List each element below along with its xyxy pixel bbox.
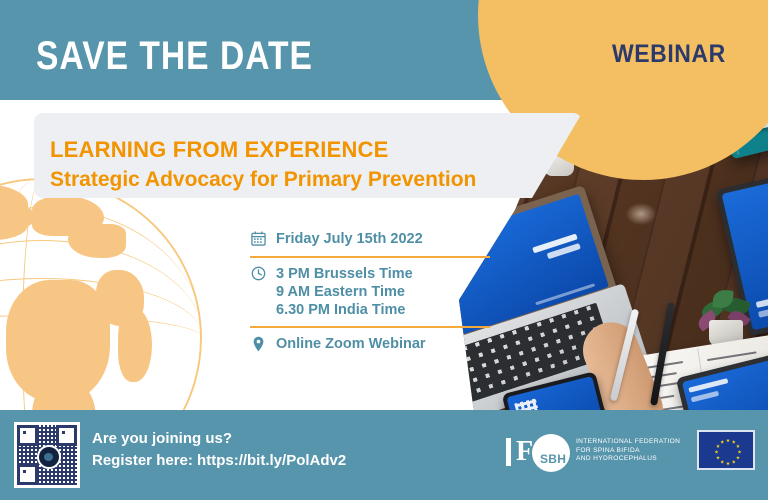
eu-flag-star — [732, 460, 736, 464]
event-date: Friday July 15th 2022 — [276, 230, 423, 248]
ifsbh-logo: F SBH INTERNATIONAL FEDERATION FOR SPINA… — [504, 432, 684, 474]
webinar-subtitle: Strategic Advocacy for Primary Preventio… — [50, 168, 476, 192]
eu-flag-star — [720, 460, 724, 464]
divider — [250, 256, 490, 258]
event-location: Online Zoom Webinar — [276, 335, 426, 353]
logo-org-name-line: AND HYDROCEPHALUS — [576, 455, 680, 464]
eu-flag-star — [736, 444, 740, 448]
event-time-line: 9 AM Eastern Time — [276, 283, 413, 301]
map-pin-icon — [250, 335, 266, 354]
webinar-flyer: SAVE THE DATE WEBINAR LEARNING FROM EXPE… — [0, 0, 768, 500]
status-badge: WEBINAR — [612, 40, 726, 69]
eu-flag-star — [716, 456, 720, 460]
detail-row-times: 3 PM Brussels Time 9 AM Eastern Time 6.3… — [250, 265, 494, 319]
logo-org-name-line: FOR SPINA BIFIDA — [576, 447, 680, 456]
logo-sbh-text: SBH — [540, 452, 566, 466]
eu-flag-star — [738, 450, 742, 454]
eu-flag-star — [726, 462, 730, 466]
event-details: Friday July 15th 2022 3 PM Brussels Time… — [250, 230, 494, 354]
event-time-line: 6.30 PM India Time — [276, 301, 413, 319]
detail-row-location: Online Zoom Webinar — [250, 335, 494, 354]
eu-flag-star — [715, 450, 719, 454]
join-question: Are you joining us? — [92, 430, 232, 447]
eu-flag-star — [726, 439, 730, 443]
event-times: 3 PM Brussels Time 9 AM Eastern Time 6.3… — [276, 265, 413, 319]
qr-code-icon[interactable] — [14, 422, 80, 488]
clock-icon — [250, 265, 266, 284]
eu-flag-star — [732, 440, 736, 444]
eu-flag-star — [720, 440, 724, 444]
eu-flag-star — [716, 444, 720, 448]
eu-flag-star — [736, 456, 740, 460]
page-title: SAVE THE DATE — [36, 34, 313, 79]
event-time-line: 3 PM Brussels Time — [276, 265, 413, 283]
logo-org-name: INTERNATIONAL FEDERATION FOR SPINA BIFID… — [576, 438, 680, 464]
calendar-icon — [250, 230, 266, 249]
logo-letter-f: F — [516, 438, 533, 466]
register-link[interactable]: Register here: https://bit.ly/PolAdv2 — [92, 452, 346, 469]
logo-letter-i — [506, 438, 511, 466]
eu-flag-icon — [697, 430, 755, 470]
logo-org-name-line: INTERNATIONAL FEDERATION — [576, 438, 680, 447]
detail-row-date: Friday July 15th 2022 — [250, 230, 494, 249]
divider — [250, 326, 490, 328]
webinar-title: LEARNING FROM EXPERIENCE — [50, 137, 389, 163]
